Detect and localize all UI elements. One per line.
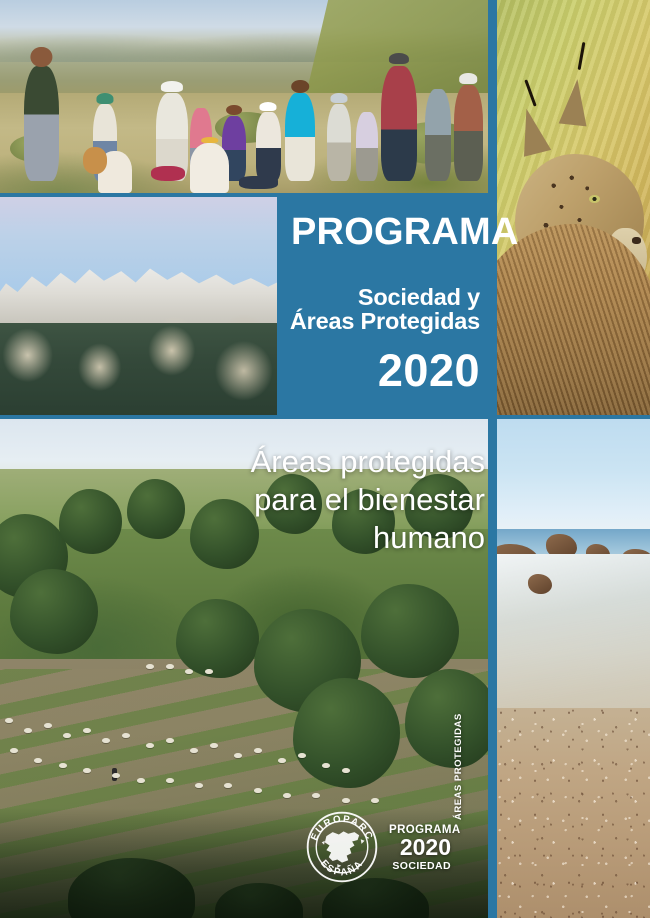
photo-iberian-lynx xyxy=(497,0,650,415)
lynx-eye xyxy=(589,195,600,203)
logo-lockup: EUROPARC ESPAÑA PROGRAMA 2020 SOCIEDAD Á… xyxy=(303,806,473,894)
person-figure xyxy=(454,85,483,182)
pine-forest xyxy=(0,323,277,415)
sheep xyxy=(146,664,154,669)
photo-group-mountain xyxy=(0,0,488,193)
person-figure xyxy=(285,93,314,182)
person-figure xyxy=(356,112,378,181)
person-cap xyxy=(331,93,348,103)
badge-vertical-label: ÁREAS PROTEGIDAS xyxy=(453,713,464,820)
sand-grain-texture xyxy=(497,708,650,918)
person-head xyxy=(31,47,52,67)
oak-tree xyxy=(176,599,259,679)
oak-tree xyxy=(10,569,98,654)
tagline-line-3: humano xyxy=(140,519,485,557)
shore-rock xyxy=(528,574,552,594)
sheep xyxy=(205,669,213,674)
europarc-espana-logo-icon: EUROPARC ESPAÑA xyxy=(303,808,381,886)
person-figure xyxy=(327,104,351,181)
badge-year: 2020 xyxy=(389,836,451,859)
programme-badge: PROGRAMA 2020 SOCIEDAD xyxy=(389,824,451,872)
person-figure xyxy=(425,89,452,182)
sky-layer xyxy=(497,419,650,534)
sheep xyxy=(342,798,350,803)
person-cap xyxy=(201,137,219,143)
oak-tree xyxy=(59,489,122,554)
backpack xyxy=(239,176,278,190)
backpack xyxy=(83,147,107,174)
person-cap xyxy=(389,53,409,65)
sheep xyxy=(59,763,67,768)
lynx-ear xyxy=(559,78,592,127)
title-panel: PROGRAMA Sociedad y Áreas Protegidas 202… xyxy=(281,197,490,415)
person-figure xyxy=(256,112,280,181)
tagline-line-2: para el bienestar xyxy=(140,481,485,519)
person-cap xyxy=(161,81,183,92)
person-figure xyxy=(24,66,58,182)
person-figure xyxy=(381,66,418,182)
cover-tagline: Áreas protegidas para el bienestar human… xyxy=(140,443,485,556)
subtitle-line-2: Áreas Protegidas xyxy=(287,309,480,333)
lynx-nose xyxy=(632,237,641,244)
programme-year: 2020 xyxy=(287,348,482,393)
book-cover: PROGRAMA Sociedad y Áreas Protegidas 202… xyxy=(0,0,650,918)
sheep xyxy=(185,669,193,674)
person-head xyxy=(291,80,309,92)
programme-subtitle: Sociedad y Áreas Protegidas xyxy=(287,285,482,334)
person-cap xyxy=(460,73,478,84)
photo-beach-surf xyxy=(497,419,650,918)
sheep xyxy=(254,788,262,793)
tagline-line-1: Áreas protegidas xyxy=(140,443,485,481)
subtitle-line-1: Sociedad y xyxy=(287,285,480,309)
oak-tree xyxy=(361,584,459,679)
backpack xyxy=(151,166,185,181)
sheep xyxy=(137,778,145,783)
badge-theme: SOCIEDAD xyxy=(389,860,451,872)
sheep xyxy=(298,753,306,758)
person-cap xyxy=(260,102,277,111)
person-seated xyxy=(190,143,229,193)
sheep xyxy=(371,798,379,803)
programme-kicker: PROGRAMA xyxy=(287,213,482,251)
sheep xyxy=(342,768,350,773)
lynx-fur-texture xyxy=(497,224,650,415)
sheep xyxy=(166,664,174,669)
photo-snowy-sierra xyxy=(0,197,277,415)
person-cap xyxy=(96,93,113,104)
